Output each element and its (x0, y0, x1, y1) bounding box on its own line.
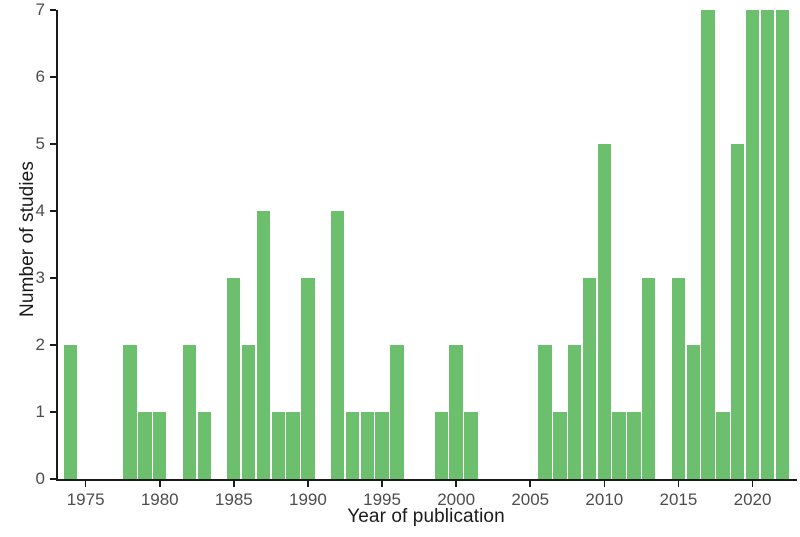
x-axis-tick-label: 2005 (495, 489, 565, 511)
bar (361, 412, 374, 479)
bar (331, 211, 344, 479)
bar (153, 412, 166, 479)
x-axis-tick (159, 481, 161, 487)
x-axis-tick (604, 481, 606, 487)
bar (761, 10, 774, 479)
bar (198, 412, 211, 479)
x-axis-tick (752, 481, 754, 487)
bar (449, 345, 462, 479)
bar (687, 345, 700, 479)
bar (390, 345, 403, 479)
x-axis-tick-label: 2010 (569, 489, 639, 511)
bar (642, 278, 655, 479)
bar (746, 10, 759, 479)
bar (598, 144, 611, 479)
bar (123, 345, 136, 479)
x-axis-tick (529, 481, 531, 487)
bar-chart: Number of studies Year of publication 01… (0, 0, 800, 537)
bar (64, 345, 77, 479)
bar (138, 412, 151, 479)
bar (435, 412, 448, 479)
x-axis-tick (85, 481, 87, 487)
bar (776, 10, 789, 479)
bar (701, 10, 714, 479)
bar (464, 412, 477, 479)
x-axis-tick-label: 1975 (51, 489, 121, 511)
x-axis-tick-label: 1995 (347, 489, 417, 511)
bar (242, 345, 255, 479)
bar (583, 278, 596, 479)
x-axis-line (56, 479, 797, 481)
bars-layer (0, 0, 800, 479)
bar (272, 412, 285, 479)
x-axis-tick-label: 2000 (421, 489, 491, 511)
bar (612, 412, 625, 479)
bar (627, 412, 640, 479)
bar (568, 345, 581, 479)
bar (301, 278, 314, 479)
x-axis-tick-label: 1990 (273, 489, 343, 511)
x-axis-tick-label: 1985 (199, 489, 269, 511)
bar (257, 211, 270, 479)
x-axis-tick (455, 481, 457, 487)
bar (553, 412, 566, 479)
x-axis-tick (381, 481, 383, 487)
bar (286, 412, 299, 479)
bar (227, 278, 240, 479)
bar (375, 412, 388, 479)
bar (672, 278, 685, 479)
x-axis-tick-label: 2015 (643, 489, 713, 511)
x-axis-tick-label: 2020 (718, 489, 788, 511)
bar (716, 412, 729, 479)
bar (346, 412, 359, 479)
bar (731, 144, 744, 479)
x-axis-tick (233, 481, 235, 487)
x-axis-tick (307, 481, 309, 487)
x-axis-tick (678, 481, 680, 487)
bar (538, 345, 551, 479)
bar (183, 345, 196, 479)
x-axis-tick-label: 1980 (125, 489, 195, 511)
